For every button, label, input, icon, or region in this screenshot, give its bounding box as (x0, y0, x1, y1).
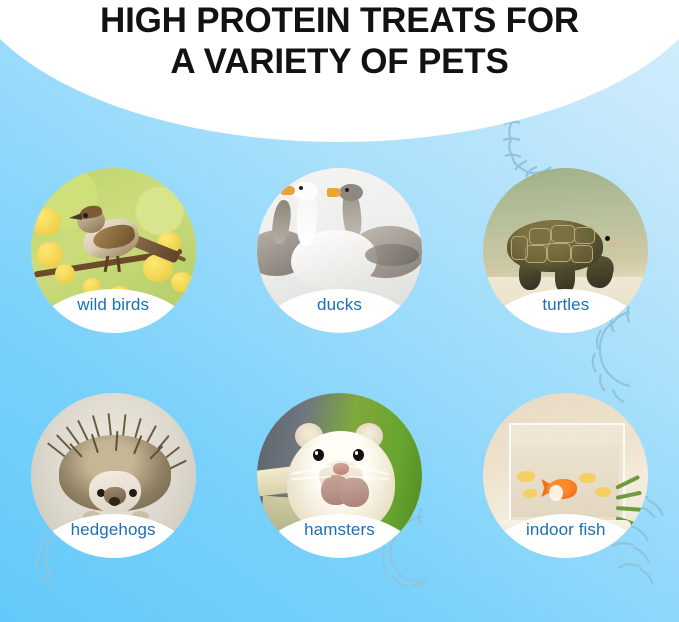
tile-ducks[interactable]: ducks (257, 168, 422, 333)
headline-line-1: HIGH PROTEIN TREATS FOR (100, 0, 579, 41)
tile-wild-birds[interactable]: wild birds (31, 168, 196, 333)
tile-image-turtles: turtles (483, 168, 648, 333)
tile-label-indoor-fish: indoor fish (483, 520, 648, 540)
tile-label-wild-birds: wild birds (31, 295, 196, 315)
header-banner: HIGH PROTEIN TREATS FOR A VARIETY OF PET… (0, 0, 679, 142)
tile-image-ducks: ducks (257, 168, 422, 333)
tile-label-ducks: ducks (257, 295, 422, 315)
tile-hamsters[interactable]: hamsters (257, 393, 422, 558)
tile-label-turtles: turtles (483, 295, 648, 315)
tile-label-hamsters: hamsters (257, 520, 422, 540)
tile-label-hedgehogs: hedgehogs (31, 520, 196, 540)
tile-image-aquarium: indoor fish (483, 393, 648, 558)
headline-line-2: A VARIETY OF PETS (170, 41, 508, 82)
poster: HIGH PROTEIN TREATS FOR A VARIETY OF PET… (0, 0, 679, 622)
tile-turtles[interactable]: turtles (483, 168, 648, 333)
header-text-block: HIGH PROTEIN TREATS FOR A VARIETY OF PET… (0, 0, 679, 82)
pet-category-grid: wild birds (0, 168, 679, 558)
tile-hedgehogs[interactable]: hedgehogs (31, 393, 196, 558)
tile-image-wild-birds: wild birds (31, 168, 196, 333)
tile-image-hedgehog: hedgehogs (31, 393, 196, 558)
tile-indoor-fish[interactable]: indoor fish (483, 393, 648, 558)
tile-image-hamster: hamsters (257, 393, 422, 558)
